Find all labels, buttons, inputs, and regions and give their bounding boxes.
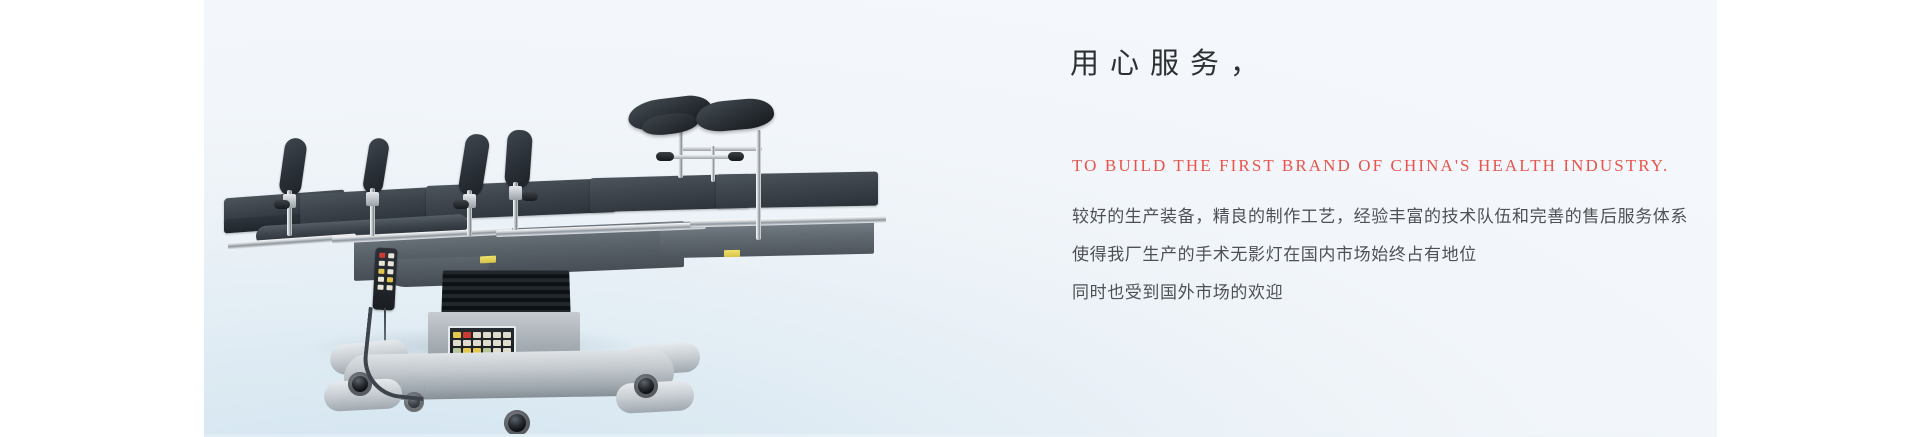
hero-banner: 用心服务， TO BUILD THE FIRST BRAND OF CHINA'… [204,0,1717,437]
keypad-button [483,332,491,338]
page-root: 用心服务， TO BUILD THE FIRST BRAND OF CHINA'… [0,0,1920,437]
frame-warning-label-1 [480,256,496,264]
stirrup-adjust-bar [670,155,732,159]
keypad-button [493,340,501,346]
paragraph-line-2: 使得我厂生产的手术无影灯在国内市场始终占有地位 [1072,236,1717,274]
banner-copy: 用心服务， TO BUILD THE FIRST BRAND OF CHINA'… [1070,0,1717,437]
banner-paragraph: 较好的生产装备，精良的制作工艺，经验丰富的技术队伍和完善的售后服务体系 使得我厂… [1072,198,1717,312]
pendant-button [378,277,384,282]
pendant-button [388,253,394,258]
stirrup-post-left [678,128,683,178]
arm-support-cushion [362,137,391,195]
pendant-button [386,285,392,290]
keypad-button [463,332,471,338]
caster-wheel-3 [504,410,530,436]
stirrup-post-middle [711,146,715,182]
arm-support-knob [453,200,469,209]
keypad-button [463,340,471,346]
keypad-button [453,332,461,338]
pendant-button-grid [377,253,394,291]
stirrup-cross-arm [678,146,762,151]
arm-support-knob [522,192,538,201]
pendant-button [387,277,393,282]
paragraph-line-3: 同时也受到国外市场的欢迎 [1072,274,1717,312]
frame-warning-label-2 [724,250,740,257]
pendant-button [377,285,383,290]
keypad-button-grid [453,332,511,354]
pendant-button [378,269,384,274]
keypad-button [503,340,511,346]
keypad-button [483,340,491,346]
caster-wheel-2 [634,374,658,398]
banner-tagline-english: TO BUILD THE FIRST BRAND OF CHINA'S HEAL… [1072,156,1669,176]
keypad-button [503,332,511,338]
arm-support-clamp [366,192,379,206]
arm-support-cushion [278,137,308,197]
pendant-button [388,261,394,266]
arm-support-clamp [509,186,522,200]
stirrup-knob-right [728,152,744,161]
keypad-button [473,332,481,338]
hand-control-pendant [372,247,397,310]
keypad-button [453,340,461,346]
stirrup-post-right [756,130,761,240]
pendant-button [379,261,385,266]
pendant-button [387,269,393,274]
banner-headline: 用心服务， [1070,46,1270,84]
arm-support-cushion [504,129,533,189]
paragraph-line-1: 较好的生产装备，精良的制作工艺，经验丰富的技术队伍和完善的售后服务体系 [1072,198,1717,236]
pendant-button [379,253,385,258]
operating-table-illustration [204,42,904,392]
arm-support-knob [274,200,290,209]
operating-table-image [204,42,904,392]
keypad-button [493,332,501,338]
table-pad-section-5 [716,172,878,209]
stirrup-knob-left [656,152,674,161]
keypad-button [473,340,481,346]
